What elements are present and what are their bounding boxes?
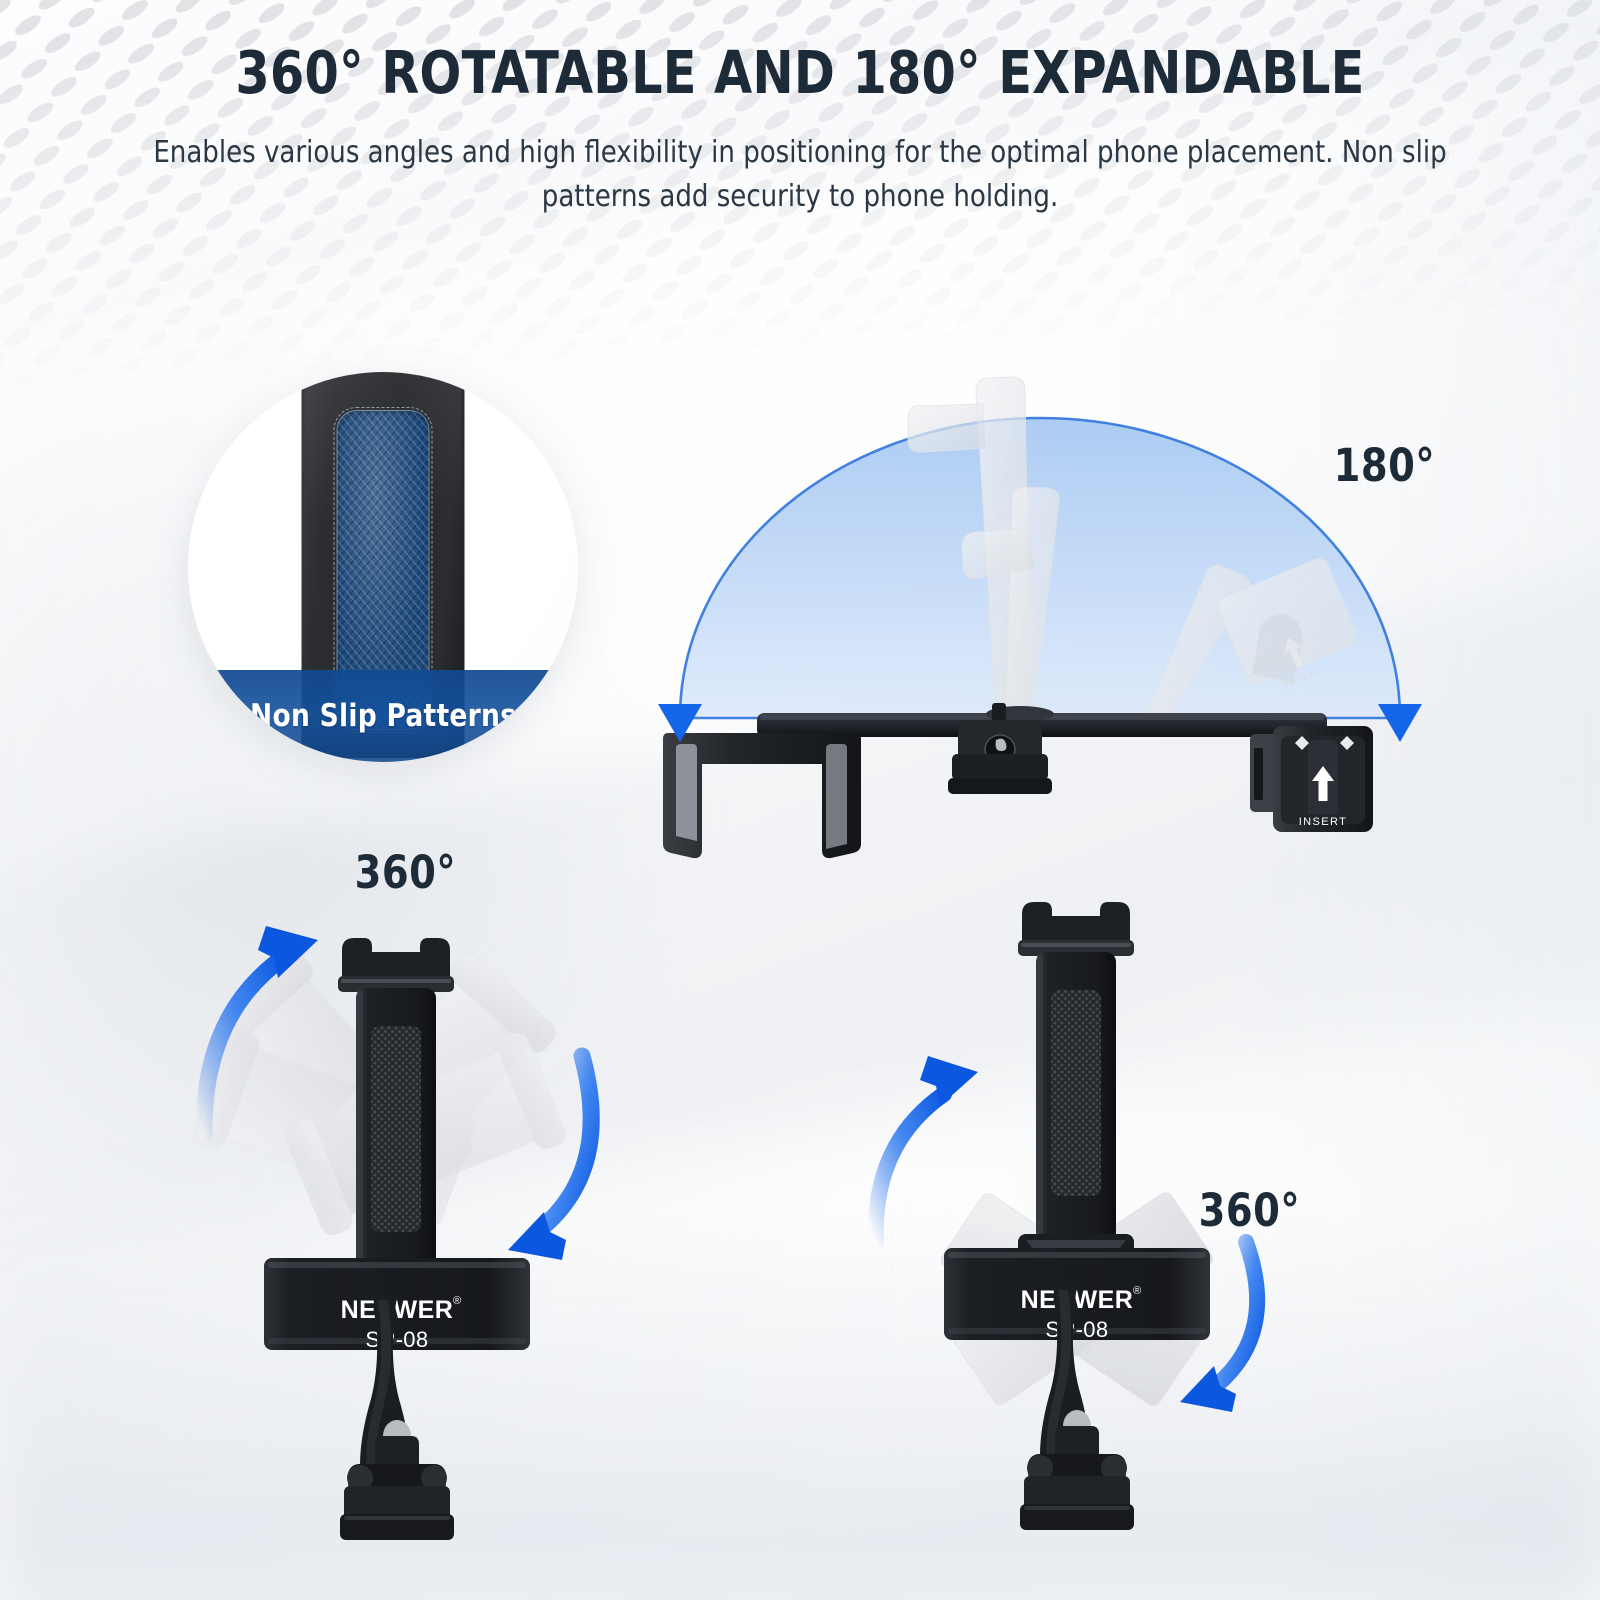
quick-release-plate: INSERT <box>1250 726 1373 832</box>
brand-registered-mark-right: ® <box>1133 1285 1141 1297</box>
brand-model-right: SP-08 <box>1045 1317 1108 1342</box>
brand-name-right: NEEWER <box>1021 1286 1134 1314</box>
header: 360° ROTATABLE AND 180° EXPANDABLE Enabl… <box>0 0 1600 219</box>
non-slip-banner: Non Slip Patterns <box>188 670 578 762</box>
expand-180-illustration: INSERT <box>640 296 1440 856</box>
label-360-degrees-right: 360° <box>1199 1184 1300 1237</box>
stand-foot-hinge-right <box>1020 1410 1134 1530</box>
infographic-canvas: 360° ROTATABLE AND 180° EXPANDABLE Enabl… <box>0 0 1600 1600</box>
page-title: 360° ROTATABLE AND 180° EXPANDABLE <box>56 0 1544 107</box>
brand-name: NEEWER <box>341 1296 454 1324</box>
brand-model: SP-08 <box>365 1327 428 1352</box>
rotation-arrow-up-left-right-scene <box>876 1056 978 1242</box>
inset-circle: Non Slip Patterns <box>188 372 578 762</box>
brand-registered-mark: ® <box>453 1295 461 1307</box>
insert-plate-label: INSERT <box>1299 816 1348 828</box>
phone-holder-front-right <box>1018 902 1134 1264</box>
non-slip-banner-label: Non Slip Patterns <box>250 698 516 734</box>
page-subtitle: Enables various angles and high flexibil… <box>149 107 1451 219</box>
rotate-360-left-illustration: NEEWER ® SP-08 <box>170 830 630 1570</box>
left-hook-clamp <box>663 733 861 858</box>
arc-end-arrow-right <box>1378 704 1422 742</box>
stand-foot-hinge <box>340 1420 454 1540</box>
non-slip-inset: Non Slip Patterns <box>188 372 578 762</box>
label-360-degrees-left: 360° <box>355 846 456 899</box>
label-180-degrees: 180° <box>1334 439 1435 492</box>
